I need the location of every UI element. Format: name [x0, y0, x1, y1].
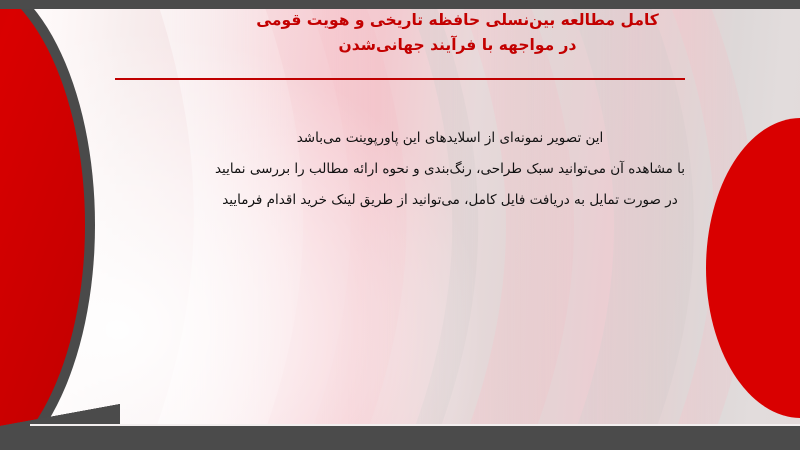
title-line-1: کامل مطالعه بین‌نسلی حافظه تاریخی و هویت… [115, 8, 800, 33]
body-line-3: در صورت تمایل به دریافت فایل کامل، می‌تو… [130, 185, 770, 216]
slide-body: این تصویر نمونه‌ای از اسلایدهای این پاور… [130, 123, 770, 216]
slide-title: کامل مطالعه بین‌نسلی حافظه تاریخی و هویت… [115, 8, 800, 58]
body-line-1: این تصویر نمونه‌ای از اسلایدهای این پاور… [130, 123, 770, 154]
title-line-2: در مواجهه با فرآیند جهانی‌شدن [115, 33, 800, 58]
slide-content: کامل مطالعه بین‌نسلی حافظه تاریخی و هویت… [0, 0, 800, 450]
title-underline-rule [115, 78, 685, 80]
body-line-2: با مشاهده آن می‌توانید سبک طراحی، رنگ‌بن… [130, 154, 770, 185]
presentation-slide: کامل مطالعه بین‌نسلی حافظه تاریخی و هویت… [0, 0, 800, 450]
